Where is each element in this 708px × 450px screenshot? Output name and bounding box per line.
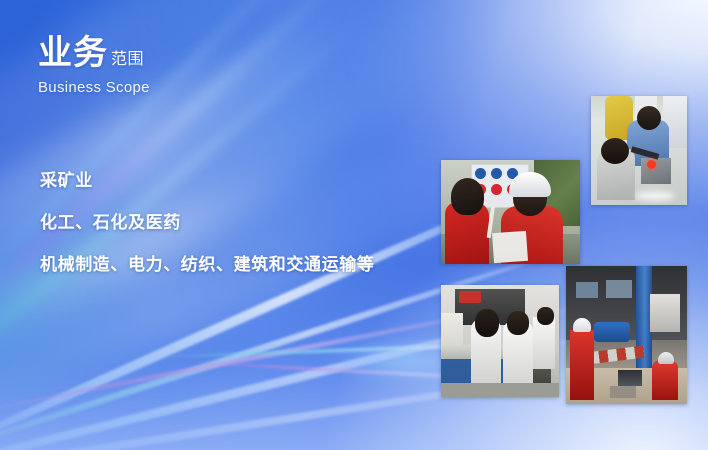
photo-field-workers [441,160,580,264]
title-chinese-row: 业务 范围 [38,36,150,70]
page-title: 业务 范围 Business Scope [38,36,150,96]
scope-item-mining: 采矿业 [40,166,374,191]
photo-laboratory [441,285,559,397]
scope-item-chemical: 化工、石化及医药 [40,208,374,233]
photo-industrial-plant [566,266,687,404]
title-chinese-main: 业务 [38,36,108,70]
photo-equipment-inspection [591,96,687,205]
scope-list: 采矿业 化工、石化及医药 机械制造、电力、纺织、建筑和交通运输等 [40,166,374,275]
title-chinese-sub: 范围 [108,52,144,70]
title-english: Business Scope [38,79,150,96]
business-scope-banner: 业务 范围 Business Scope 采矿业 化工、石化及医药 机械制造、电… [0,0,708,450]
scope-item-manufacturing: 机械制造、电力、纺织、建筑和交通运输等 [40,250,374,275]
